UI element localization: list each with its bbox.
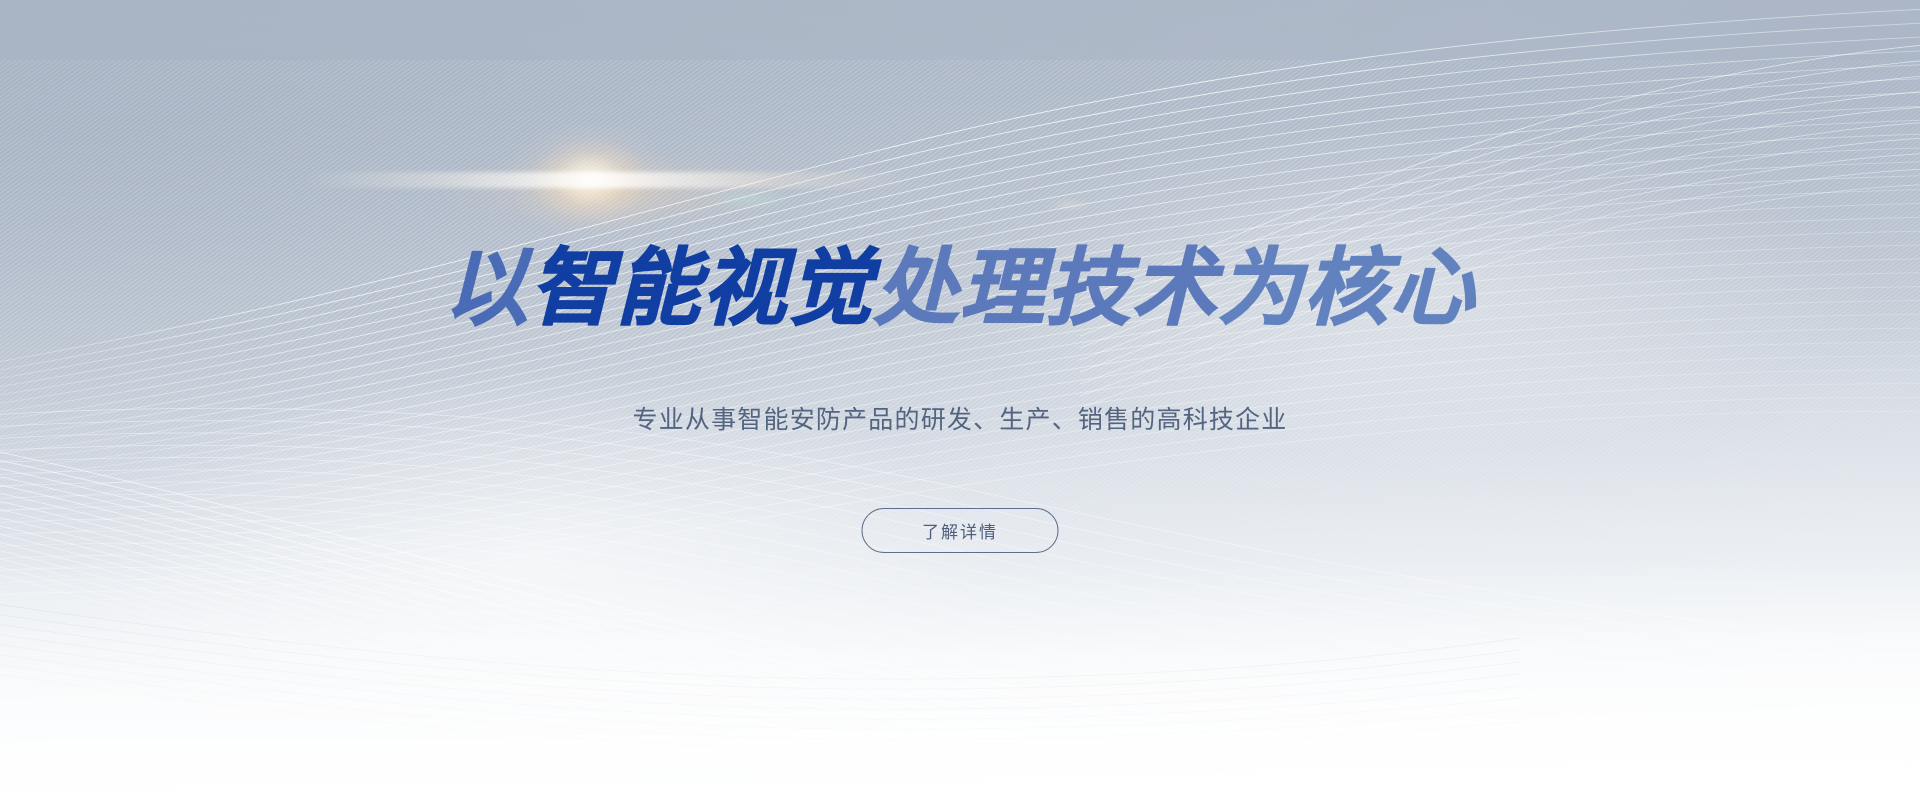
page-subtitle: 专业从事智能安防产品的研发、生产、销售的高科技企业 — [632, 400, 1287, 436]
headline-segment-1: 以 — [444, 239, 530, 337]
headline-segment-3: 处理技术 — [874, 239, 1218, 337]
hero-banner: 以智能视觉处理技术为核心 专业从事智能安防产品的研发、生产、销售的高科技企业 了… — [0, 0, 1920, 800]
headline-segment-2: 智能视觉 — [530, 239, 874, 337]
learn-more-button[interactable]: 了解详情 — [862, 508, 1059, 553]
hero-content: 以智能视觉处理技术为核心 专业从事智能安防产品的研发、生产、销售的高科技企业 了… — [0, 0, 1920, 800]
page-title: 以智能视觉处理技术为核心 — [444, 246, 1476, 330]
headline-segment-4: 为核心 — [1218, 239, 1476, 337]
